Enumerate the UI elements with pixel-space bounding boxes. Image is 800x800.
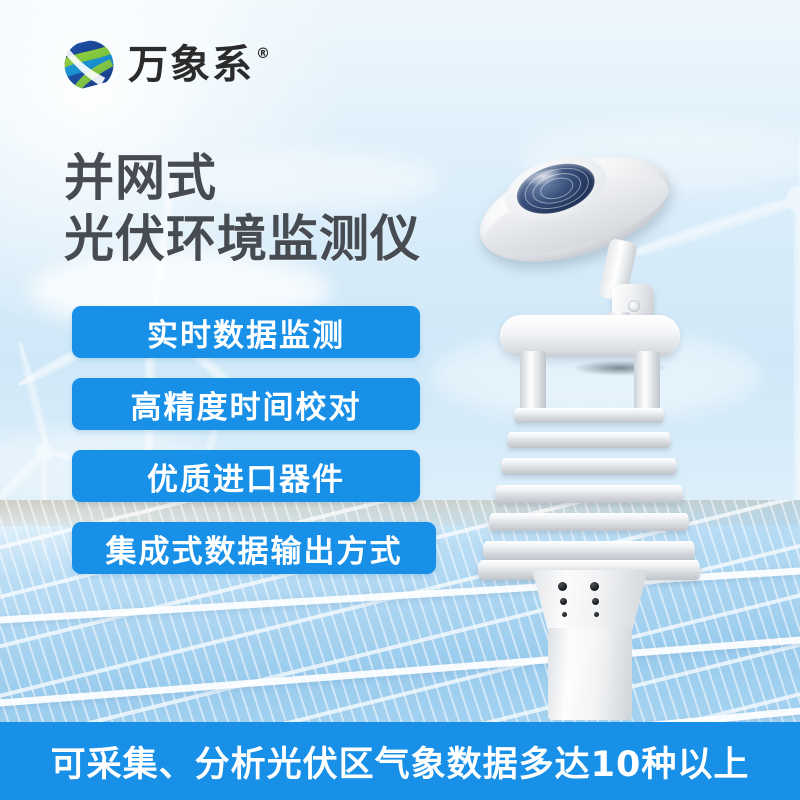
feature-badge-imported-components[interactable]: 优质进口器件 bbox=[72, 450, 420, 502]
sensor-vent-hole bbox=[560, 598, 567, 605]
shield-louver bbox=[507, 432, 671, 448]
bottom-banner-text: 可采集、分析光伏区气象数据多达10种以上 bbox=[51, 736, 750, 787]
sensor-vent-hole bbox=[594, 612, 599, 617]
shield-louver bbox=[514, 408, 664, 423]
feature-badge-integrated-output[interactable]: 集成式数据输出方式 bbox=[72, 522, 436, 574]
barrel-cone bbox=[532, 570, 648, 632]
shield-louver bbox=[495, 485, 683, 503]
title-line-1: 并网式 bbox=[64, 149, 217, 207]
brand-name-text: 万象系® bbox=[128, 45, 272, 85]
bracket-bolt bbox=[628, 300, 640, 312]
sensor-vent-hole bbox=[592, 598, 599, 605]
radiation-shield bbox=[478, 408, 700, 580]
feature-badge-realtime-monitoring[interactable]: 实时数据监测 bbox=[72, 306, 420, 358]
globe-swirl-logo-icon bbox=[60, 36, 118, 94]
feature-badge-list: 实时数据监测 高精度时间校对 优质进口器件 集成式数据输出方式 bbox=[72, 306, 436, 574]
bottom-banner: 可采集、分析光伏区气象数据多达10种以上 bbox=[0, 722, 800, 800]
shield-louver bbox=[483, 541, 695, 560]
title-line-2: 光伏环境监测仪 bbox=[64, 209, 421, 270]
barrel-tube bbox=[548, 628, 632, 720]
registered-trademark-mark: ® bbox=[256, 47, 272, 61]
product-image bbox=[470, 140, 730, 730]
shield-louver bbox=[489, 513, 689, 531]
product-banner: 万象系® 并网式 光伏环境监测仪 实时数据监测 高精度时间校对 优质进口器件 集… bbox=[0, 0, 800, 800]
shield-louver bbox=[501, 458, 677, 475]
sensor-vent-hole bbox=[590, 582, 599, 591]
feature-badge-time-sync[interactable]: 高精度时间校对 bbox=[72, 378, 420, 430]
sensor-vent-hole bbox=[562, 612, 567, 617]
sensor-vent-hole bbox=[558, 582, 567, 591]
sensor-barrel bbox=[532, 570, 648, 700]
page-title: 并网式 光伏环境监测仪 bbox=[64, 148, 421, 270]
brand-logo[interactable]: 万象系® bbox=[60, 36, 272, 94]
